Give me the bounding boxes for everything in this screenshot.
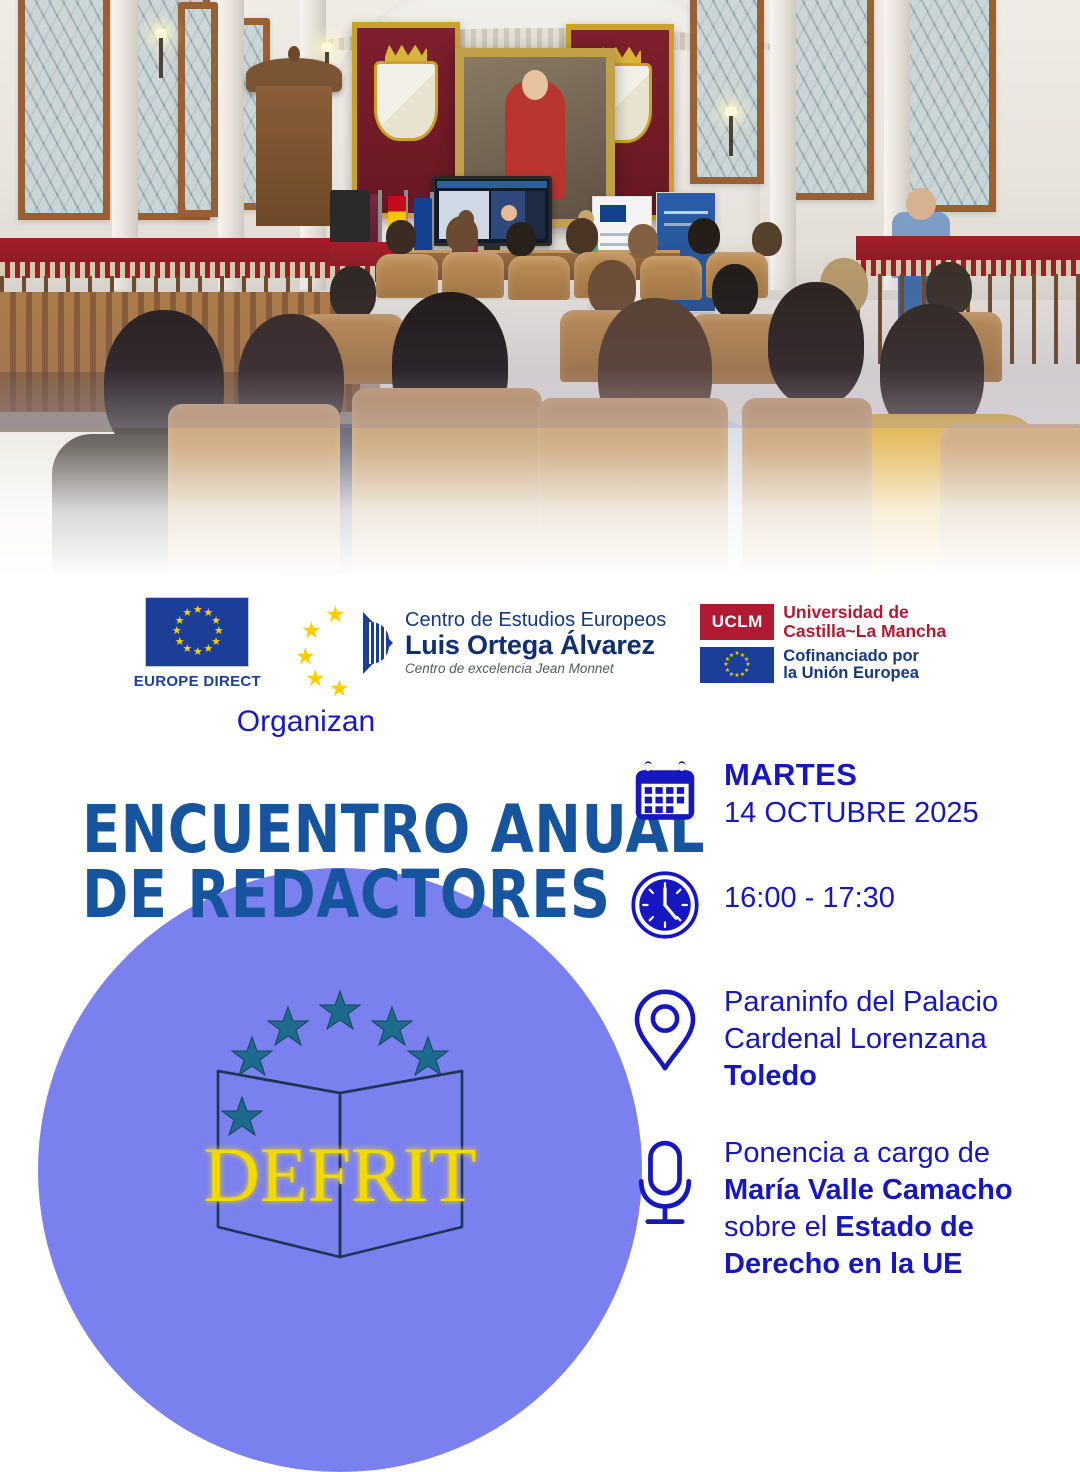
topic-bold-2: Derecho en la UE: [724, 1246, 1013, 1283]
defrit-logo-svg: DEFRIT: [160, 975, 520, 1275]
cofinanced-text: Cofinanciado por la Unión Europea: [783, 648, 919, 684]
time-text: 16:00 - 17:30: [724, 866, 895, 917]
speaker-lead: Ponencia a cargo de: [724, 1135, 1013, 1172]
eu-star-icon: ★: [172, 627, 181, 636]
eu-cofinanced-flag-icon: ★★★★★★★★★★★★: [700, 647, 774, 683]
event-details: MARTES 14 OCTUBRE 2025: [628, 755, 1058, 1318]
standing-man-head: [906, 188, 936, 220]
clock-icon: [628, 866, 702, 940]
pulpit-body: [256, 86, 332, 226]
detail-time: 16:00 - 17:30: [628, 866, 1058, 940]
audience-seat: [352, 388, 542, 568]
cee-star-icon: ★: [325, 603, 346, 626]
audience-seat: [940, 424, 1080, 574]
cee-text-block: Centro de Estudios Europeos Luis Ortega …: [405, 610, 666, 676]
calendar-icon: [628, 755, 702, 831]
audience-seat: [168, 404, 340, 572]
eu-star-icon: ★: [193, 606, 202, 615]
uclm-name: Universidad de Castilla~La Mancha: [783, 603, 946, 641]
wall-sconce-right: [716, 106, 746, 158]
cee-stars-icon: ★★★★★: [295, 601, 355, 685]
defrit-logo: DEFRIT: [160, 975, 520, 1275]
star-on-page: [222, 1097, 262, 1135]
rollup-blue-line-1: [664, 211, 708, 214]
date-full: 14 OCTUBRE 2025: [724, 795, 979, 832]
uclm-line-2: Castilla~La Mancha: [783, 622, 946, 641]
speaker-topic-line-1: sobre el Estado de: [724, 1209, 1013, 1246]
venue-line-1: Paraninfo del Palacio: [724, 984, 998, 1021]
audience-head: [506, 222, 536, 256]
eu-flag-icon: ★★★★★★★★★★★★: [145, 597, 249, 667]
uclm-mark: UCLM: [700, 604, 774, 640]
eu-star-icon: ★: [175, 638, 184, 647]
defrit-wordmark: DEFRIT: [204, 1131, 477, 1218]
cofinanced-line-2: la Unión Europea: [783, 665, 919, 683]
audience-seat: [538, 398, 728, 574]
date-weekday: MARTES: [724, 755, 979, 795]
date-text: MARTES 14 OCTUBRE 2025: [724, 755, 979, 832]
speaker-name: María Valle Camacho: [724, 1172, 1013, 1209]
window-left-3: [178, 2, 218, 217]
cofinanced-line-1: Cofinanciado por: [783, 648, 919, 666]
audience-seat: [742, 398, 872, 574]
photo-scene: [0, 0, 1080, 578]
eu-star-icon: ★: [203, 645, 212, 654]
flag-eu: [414, 198, 432, 254]
detail-date: MARTES 14 OCTUBRE 2025: [628, 755, 1058, 832]
uclm-logo: UCLM Universidad de Castilla~La Mancha ★…: [700, 603, 946, 684]
audience-head: [688, 218, 720, 254]
audience-head: [446, 216, 478, 252]
location-pin-icon: [628, 984, 702, 1072]
portrait-head: [522, 70, 548, 100]
cee-line-3: Centro de excelencia Jean Monnet: [405, 662, 666, 676]
screen-toolbar: [437, 181, 547, 188]
eu-star-icon: ★: [734, 673, 739, 680]
wall-sconce-left: [146, 28, 176, 80]
title-line-2: DE REDACTORES: [82, 863, 590, 928]
cee-star-icon: ★: [305, 667, 326, 690]
europe-direct-caption: EUROPE DIRECT: [134, 673, 261, 690]
cofinanced-row: ★★★★★★★★★★★★ Cofinanciado por la Unión E…: [700, 647, 946, 683]
cee-star-icon: ★: [301, 619, 322, 642]
eu-star-icon: ★: [182, 609, 191, 618]
auditorium-photo: [0, 0, 1080, 578]
cee-mark-icon: [363, 612, 397, 674]
audience-head: [628, 224, 658, 258]
eu-star-icon: ★: [193, 648, 202, 657]
detail-speaker: Ponencia a cargo de María Valle Camacho …: [628, 1135, 1058, 1283]
time-range: 16:00 - 17:30: [724, 880, 895, 917]
topic-bold-1: Estado de: [835, 1211, 974, 1243]
eu-star-icon: ★: [740, 672, 745, 679]
eu-star-icon: ★: [729, 653, 734, 660]
uclm-line-1: Universidad de: [783, 603, 946, 622]
audience-head: [566, 218, 598, 254]
uclm-main-row: UCLM Universidad de Castilla~La Mancha: [700, 603, 946, 641]
audience-seat: [640, 256, 702, 300]
topic-prefix: sobre el: [724, 1211, 835, 1243]
pulpit-finial: [288, 46, 300, 62]
microphone-icon: [628, 1135, 702, 1229]
window-right-2: [788, 0, 874, 200]
crown-ornament-left: [385, 45, 427, 65]
audience-head: [330, 266, 376, 320]
venue-text: Paraninfo del Palacio Cardenal Lorenzana…: [724, 984, 998, 1095]
window-left-1: [18, 0, 110, 220]
window-right-3: [900, 0, 996, 212]
cee-star-icon: ★: [329, 677, 350, 700]
title-line-1: ENCUENTRO ANUAL: [82, 798, 590, 863]
venue-city: Toledo: [724, 1058, 998, 1095]
venue-line-2: Cardenal Lorenzana: [724, 1021, 998, 1058]
page-title: ENCUENTRO ANUAL DE REDACTORES: [82, 798, 590, 927]
cee-line-1: Centro de Estudios Europeos: [405, 610, 666, 631]
organizan-label: Organizan: [0, 705, 612, 739]
audience-seat: [508, 256, 570, 300]
audience-head: [752, 222, 782, 256]
stars-arc-icon: [222, 991, 448, 1135]
detail-venue: Paraninfo del Palacio Cardenal Lorenzana…: [628, 984, 1058, 1095]
sponsor-logos: ★★★★★★★★★★★★ EUROPE DIRECT ★★★★★ Centro …: [0, 588, 1080, 698]
audience-head: [712, 264, 758, 318]
rollup-eu-flag: [600, 205, 626, 222]
eu-star-icon: ★: [214, 627, 223, 636]
cee-line-2: Luis Ortega Álvarez: [405, 631, 666, 659]
speaker-text: Ponencia a cargo de María Valle Camacho …: [724, 1135, 1013, 1283]
centro-estudios-europeos-logo: ★★★★★ Centro de Estudios Europeos Luis O…: [295, 601, 666, 685]
audience-head: [768, 282, 864, 406]
audience-seat: [376, 254, 438, 298]
europe-direct-logo: ★★★★★★★★★★★★ EUROPE DIRECT: [134, 597, 261, 690]
audience: [0, 248, 1080, 578]
audience-head: [386, 220, 416, 254]
